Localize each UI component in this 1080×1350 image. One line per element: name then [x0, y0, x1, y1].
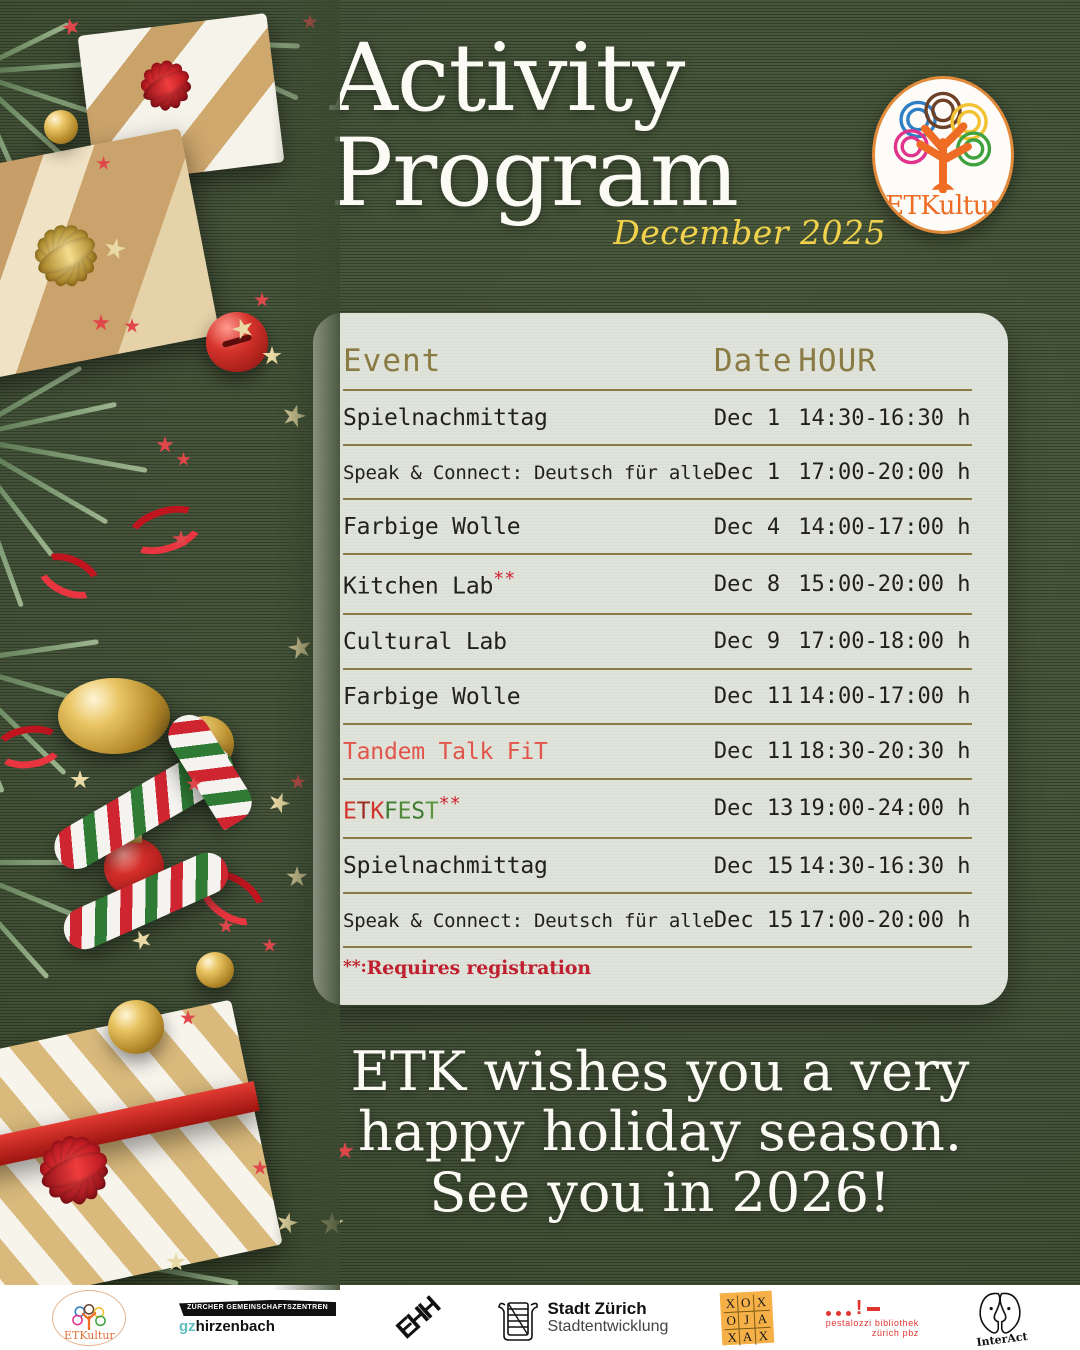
table-header-row: Event Date HOUR [343, 343, 972, 390]
event-hour-cell: 17:00-20:00 h [798, 445, 972, 499]
logo-ehh-text: EHH [379, 1280, 454, 1350]
event-name-cell: Kitchen Lab** [343, 554, 714, 614]
event-name-text: Spielnachmittag [343, 405, 548, 431]
event-name-cell: Cultural Lab [343, 614, 714, 669]
oja-cell: O [738, 1294, 754, 1312]
gold-ornament-icon [44, 110, 78, 144]
logo-gz-name: hirzenbach [196, 1318, 275, 1335]
pbz-marks-icon: ! [826, 1298, 881, 1316]
two-faces-icon [972, 1291, 1028, 1335]
event-date-cell: Dec 1 [714, 390, 798, 445]
table-row: Tandem Talk FiTDec 1118:30-20:30 h [343, 724, 972, 779]
gold-jingle-bell-icon [108, 1000, 164, 1054]
title-line-2: Program [330, 129, 890, 218]
schedule-table-body: SpielnachmittagDec 114:30-16:30 hSpeak &… [343, 390, 972, 947]
event-name-cell: Spielnachmittag [343, 390, 714, 445]
event-hour-cell: 17:00-18:00 h [798, 614, 972, 669]
event-hour-cell: 17:00-20:00 h [798, 893, 972, 947]
schedule-card: Event Date HOUR SpielnachmittagDec 114:3… [313, 313, 1008, 1005]
logo-gz-prefix: gz [179, 1318, 196, 1335]
logo-pbz: ! pestalozzi bibliothek zürich pbz [826, 1290, 919, 1346]
event-date-cell: Dec 1 [714, 445, 798, 499]
registration-footnote: **:Requires registration [343, 957, 972, 979]
event-hour-cell: 15:00-20:00 h [798, 554, 972, 614]
event-name-cell: Speak & Connect: Deutsch für alle [343, 445, 714, 499]
event-name-cell: ETKFEST** [343, 779, 714, 839]
logo-pbz-line2: zürich pbz [872, 1328, 919, 1338]
oja-cell: X [723, 1295, 739, 1313]
column-header-event: Event [343, 343, 714, 390]
red-gift-bow-icon [8, 1104, 140, 1236]
event-name-text: Cultural Lab [343, 629, 507, 655]
oja-cell: X [754, 1293, 770, 1311]
gold-glitter-ornament-icon [196, 952, 234, 988]
etkultur-logo-badge: ETKultur [872, 76, 1014, 234]
table-row: SpielnachmittagDec 114:30-16:30 h [343, 390, 972, 445]
event-hour-cell: 18:30-20:30 h [798, 724, 972, 779]
red-gift-bow-icon [118, 38, 214, 134]
logo-interact: InterAct [972, 1290, 1028, 1346]
footnote-text: Requires registration [367, 957, 591, 979]
event-hour-cell: 14:30-16:30 h [798, 390, 972, 445]
event-hour-cell: 14:00-17:00 h [798, 669, 972, 724]
logo-oja: XOXOJAXAX [721, 1290, 773, 1346]
greeting-line-1: ETK wishes you a very [320, 1042, 1000, 1102]
footnote-marker: **: [343, 957, 367, 977]
column-header-date: Date [714, 343, 798, 390]
table-row: Speak & Connect: Deutsch für alleDec 151… [343, 893, 972, 947]
event-date-cell: Dec 11 [714, 724, 798, 779]
oja-cell: J [739, 1311, 755, 1329]
schedule-table: Event Date HOUR SpielnachmittagDec 114:3… [343, 343, 972, 948]
logo-gz-hirzenbach: ZÜRCHER GEMEINSCHAFTSZENTREN gzhirzenbac… [179, 1290, 336, 1346]
logo-etkultur-text: ETKultur [64, 1330, 115, 1341]
holiday-greeting: ETK wishes you a very happy holiday seas… [320, 1042, 1000, 1223]
event-date-cell: Dec 15 [714, 893, 798, 947]
greeting-line-2: happy holiday season. [320, 1102, 1000, 1162]
logo-etkultur: ETKultur [52, 1290, 126, 1346]
logo-sz-name: Stadt Zürich [547, 1299, 668, 1319]
christmas-decoration-border [0, 0, 340, 1290]
red-jingle-bell-icon [206, 312, 268, 372]
table-row: Farbige WolleDec 414:00-17:00 h [343, 499, 972, 554]
greeting-line-3: See you in 2026! [320, 1163, 1000, 1223]
event-name-text: Spielnachmittag [343, 853, 548, 879]
tree-fingerprint-icon [66, 1304, 112, 1330]
event-name-festive: ETKFEST [343, 798, 439, 824]
event-date-cell: Dec 9 [714, 614, 798, 669]
event-name-cell: Speak & Connect: Deutsch für alle [343, 893, 714, 947]
star-confetti-icon [254, 292, 270, 308]
table-row: SpielnachmittagDec 1514:30-16:30 h [343, 838, 972, 893]
oja-cell: X [725, 1329, 741, 1346]
registration-asterisk: ** [493, 569, 515, 590]
event-name-text: Farbige Wolle [343, 514, 520, 540]
event-hour-cell: 14:30-16:30 h [798, 838, 972, 893]
poster-title-block: Activity Program December 2025 [330, 34, 890, 252]
logo-stadt-zuerich: Stadt Zürich Stadtentwicklung [497, 1290, 668, 1346]
event-hour-cell: 14:00-17:00 h [798, 499, 972, 554]
event-name-text: Speak & Connect: Deutsch für alle [343, 910, 714, 932]
tree-fingerprint-icon [875, 89, 1011, 193]
event-date-cell: Dec 11 [714, 669, 798, 724]
oja-cell: A [740, 1328, 756, 1345]
event-name-text: Kitchen Lab [343, 574, 493, 600]
column-header-hour: HOUR [798, 343, 972, 390]
oja-cell: X [755, 1327, 771, 1344]
zurich-crest-icon [497, 1295, 539, 1341]
logo-gz-top-text: ZÜRCHER GEMEINSCHAFTSZENTREN [179, 1300, 336, 1316]
etkultur-logo-text: ETKultur [885, 193, 1001, 219]
event-name-text: Farbige Wolle [343, 684, 520, 710]
oja-cell: O [724, 1312, 740, 1330]
event-name-text: Speak & Connect: Deutsch für alle [343, 462, 714, 484]
title-line-1: Activity [330, 34, 890, 123]
event-date-cell: Dec 4 [714, 499, 798, 554]
table-row: Speak & Connect: Deutsch für alleDec 117… [343, 445, 972, 499]
event-name-cell: Farbige Wolle [343, 499, 714, 554]
table-row: Kitchen Lab**Dec 815:00-20:00 h [343, 554, 972, 614]
event-name-cell: Farbige Wolle [343, 669, 714, 724]
poster-canvas: Activity Program December 2025 ETKultur … [0, 0, 1080, 1350]
registration-asterisk: ** [439, 794, 461, 815]
table-row: Cultural LabDec 917:00-18:00 h [343, 614, 972, 669]
gold-ornament-icon [58, 678, 170, 754]
event-name-cell: Tandem Talk FiT [343, 724, 714, 779]
logo-ehh: EHH [389, 1290, 445, 1346]
event-date-cell: Dec 8 [714, 554, 798, 614]
event-date-cell: Dec 13 [714, 779, 798, 839]
oja-cell: A [754, 1310, 770, 1328]
logo-sz-sub: Stadtentwicklung [547, 1318, 668, 1336]
table-row: ETKFEST**Dec 1319:00-24:00 h [343, 779, 972, 839]
table-row: Farbige WolleDec 1114:00-17:00 h [343, 669, 972, 724]
oja-tictactoe-grid: XOXOJAXAX [720, 1290, 775, 1345]
event-date-cell: Dec 15 [714, 838, 798, 893]
event-name-cell: Spielnachmittag [343, 838, 714, 893]
partner-logo-strip: ETKultur ZÜRCHER GEMEINSCHAFTSZENTREN gz… [0, 1285, 1080, 1350]
logo-pbz-line1: pestalozzi bibliothek [826, 1318, 919, 1328]
event-name-text: Tandem Talk FiT [343, 739, 548, 765]
event-hour-cell: 19:00-24:00 h [798, 779, 972, 839]
